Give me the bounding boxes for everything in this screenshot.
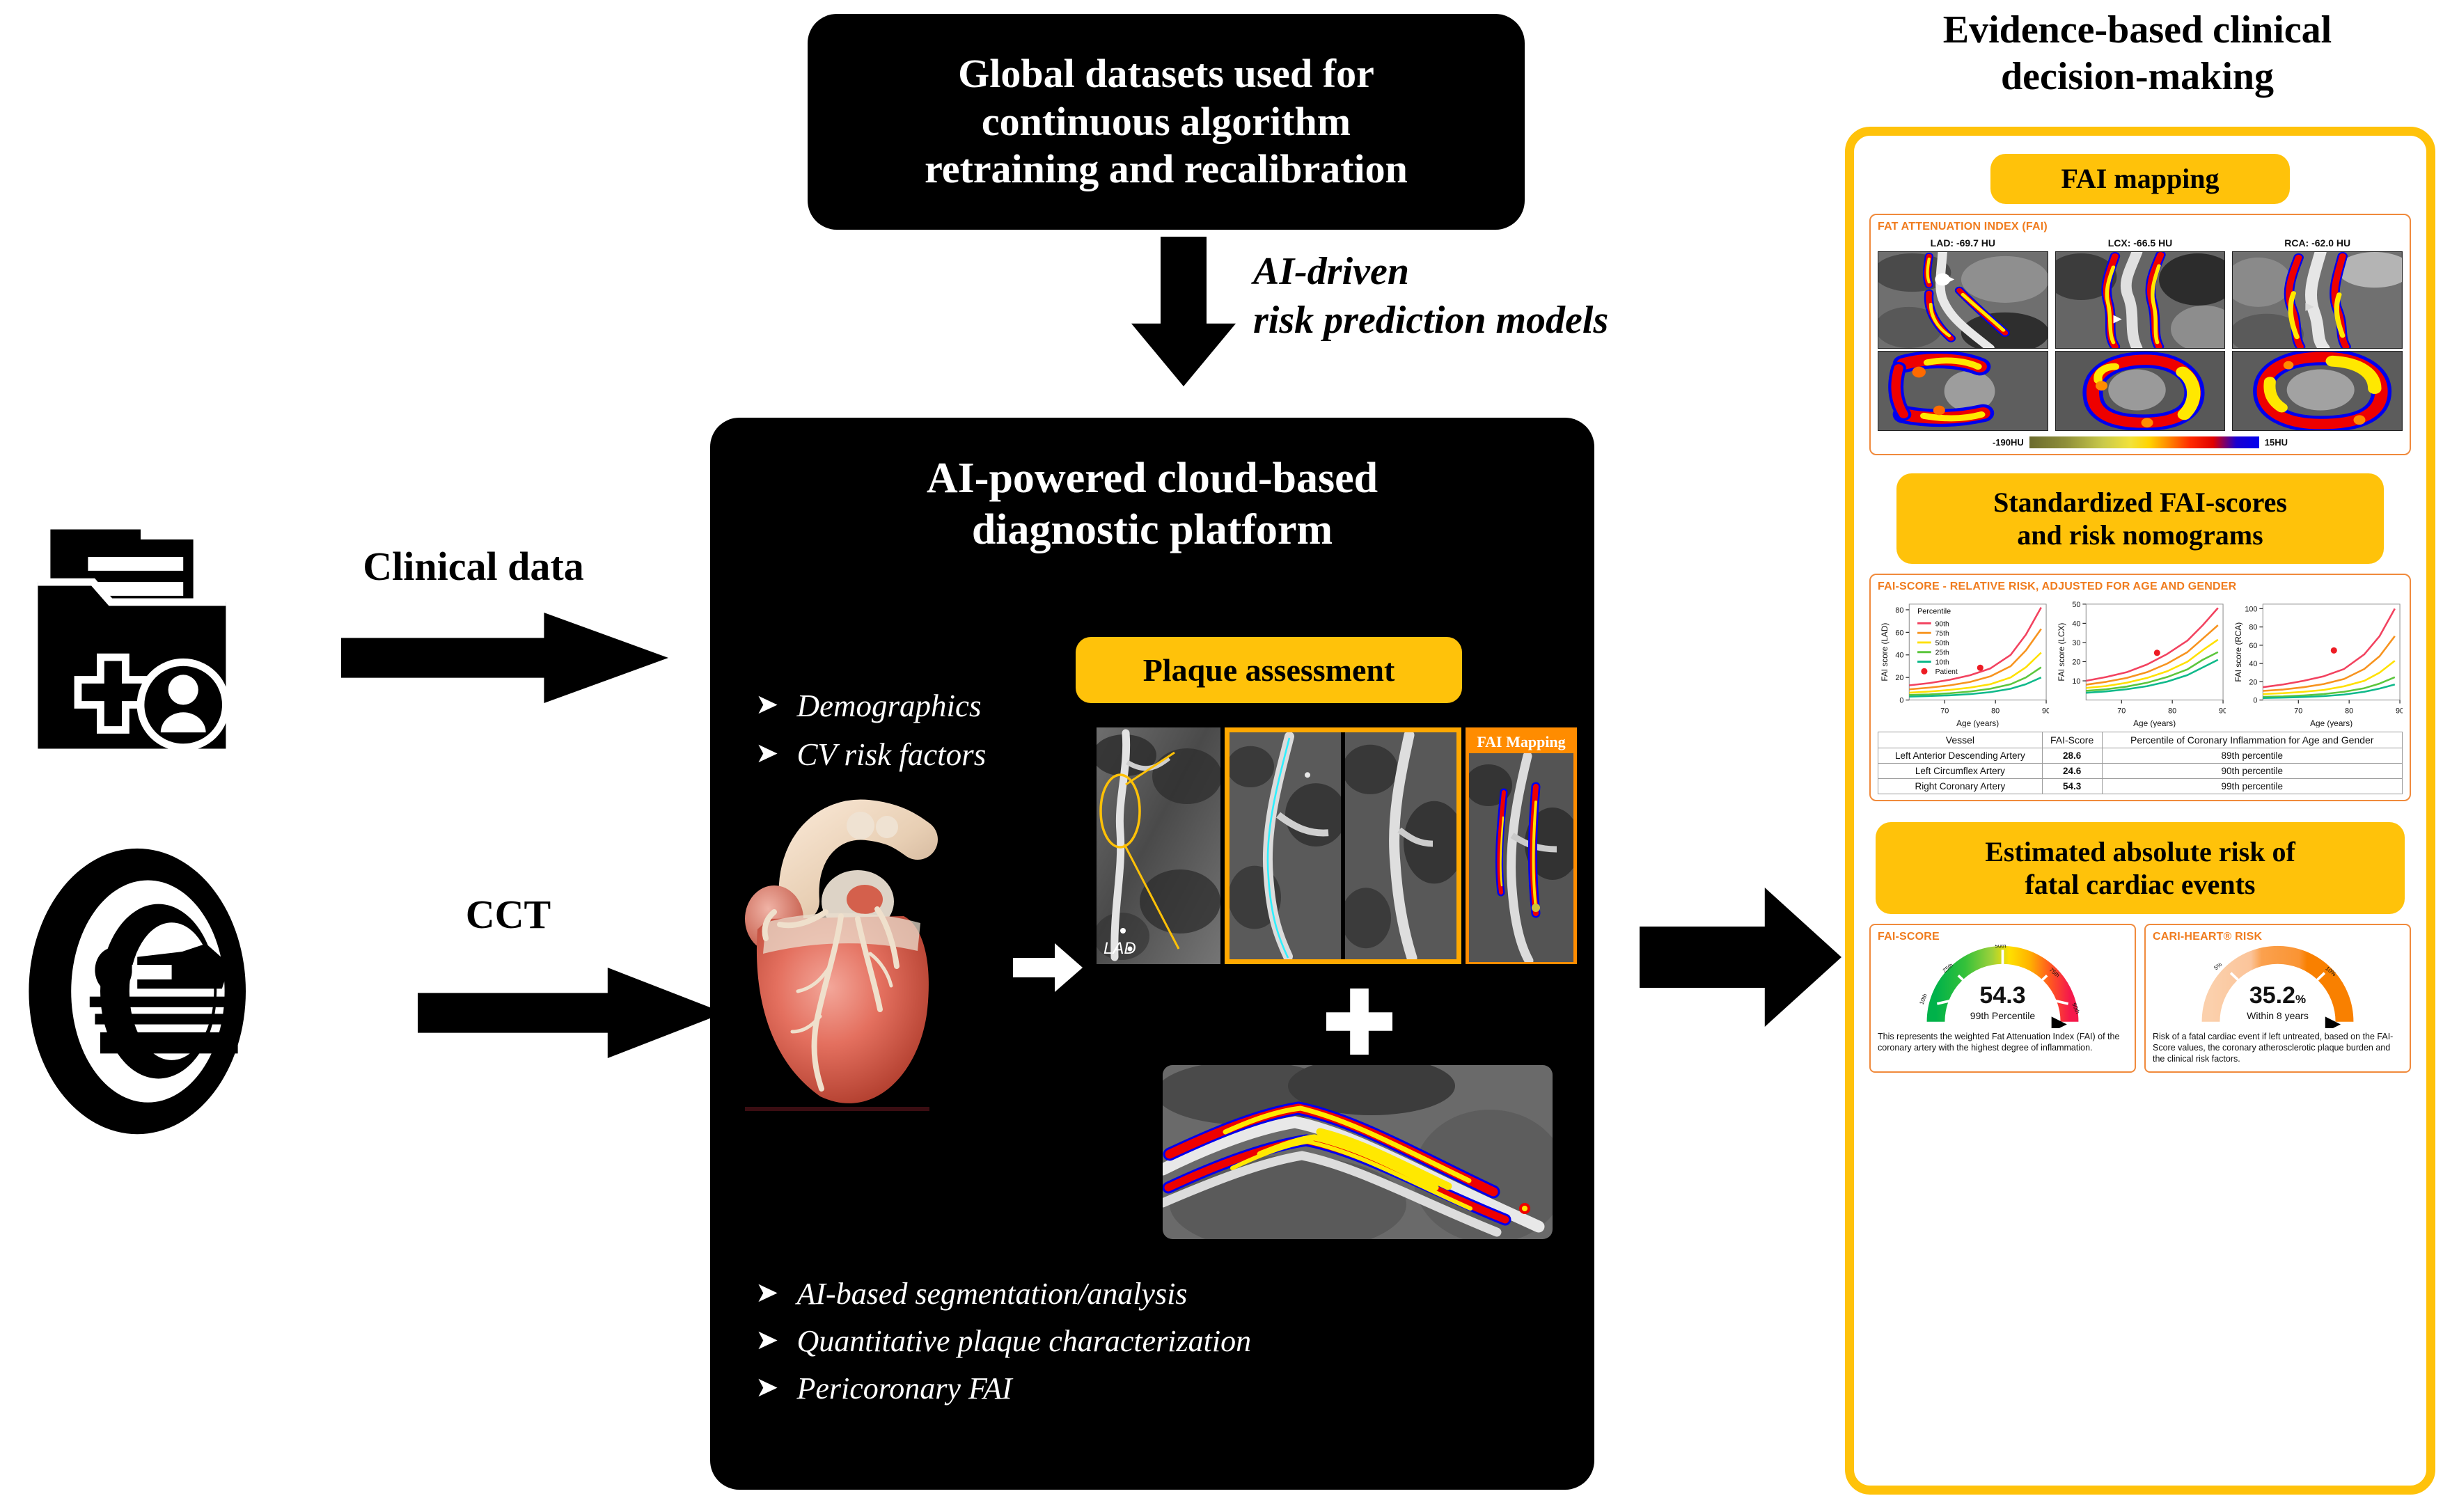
ct-scanner-icon (21, 842, 418, 1142)
svg-text:FAI score (LAD): FAI score (LAD) (1880, 623, 1890, 682)
medical-folder-icon (28, 487, 278, 766)
cari-gauge-sub: Within 8 years (2153, 1010, 2403, 1021)
svg-text:20: 20 (1895, 674, 1903, 682)
risk-pill-line1: Estimated absolute risk of (1985, 835, 2295, 868)
cell-vessel: Right Coronary Artery (1878, 778, 2043, 794)
cell-vessel: Left Circumflex Artery (1878, 763, 2043, 778)
nomogram-chart-lcx: 1020304050708090Age (years)FAI score (LC… (2055, 597, 2226, 727)
risk-pill-line2: fatal cardiac events (1985, 868, 2295, 901)
fai-column-label: LCX: -66.5 HU (2055, 237, 2226, 249)
colorbar-max-label: 15HU (2265, 437, 2288, 448)
svg-text:90: 90 (2042, 707, 2049, 715)
table-header-score: FAI-Score (2042, 732, 2102, 748)
heart-3d-render (738, 780, 1010, 1128)
fai-crosssection-image (2232, 351, 2403, 431)
clinical-data-label: Clinical data (327, 543, 620, 590)
bullet-item: ➤ AI-based segmentation/analysis (755, 1270, 1251, 1318)
ai-driven-line2: risk prediction models (1253, 296, 1741, 345)
fai-gauge-title: FAI-SCORE (1878, 931, 2128, 943)
platform-title-line1: AI-powered cloud-based (710, 452, 1594, 504)
section-pill-fai-mapping: FAI mapping (1990, 154, 2290, 204)
evidence-title-line2: decision-making (1838, 54, 2437, 100)
svg-text:10: 10 (2072, 677, 2080, 686)
fai-card: FAT ATTENUATION INDEX (FAI) LAD: -69.7 H… (1869, 214, 2411, 455)
svg-text:40: 40 (1895, 652, 1903, 660)
fai-gauge-sub: 99th Percentile (1878, 1010, 2128, 1021)
fai-column-label: RCA: -62.0 HU (2232, 237, 2403, 249)
cari-gauge-caption: Risk of a fatal cardiac event if left un… (2153, 1031, 2403, 1064)
fai-column: LCX: -66.5 HU (2055, 237, 2226, 431)
cct-arrow-icon (418, 968, 724, 1058)
svg-text:FAI score (LCX): FAI score (LCX) (2057, 623, 2066, 682)
colorbar-gradient (2029, 436, 2259, 448)
bullet-item: ➤ Demographics (755, 682, 986, 731)
ct-mpr-panel-group (1225, 727, 1461, 964)
cari-gauge-title: CARI-HEART® RISK (2153, 931, 2403, 943)
gauge-tick-50th: 50th (1995, 945, 2006, 950)
platform-bullets-bottom: ➤ AI-based segmentation/analysis ➤ Quant… (755, 1270, 1251, 1413)
plaque-assessment-badge: Plaque assessment (1076, 637, 1462, 703)
evidence-panel: FAI mapping FAT ATTENUATION INDEX (FAI) … (1845, 127, 2435, 1495)
fai-card-title: FAT ATTENUATION INDEX (FAI) (1878, 221, 2403, 233)
fai-gauge-caption: This represents the weighted Fat Attenua… (1878, 1031, 2128, 1053)
platform-title-line2: diagnostic platform (710, 504, 1594, 556)
svg-text:90th: 90th (1935, 620, 1949, 628)
global-datasets-line2: continuous algorithm (982, 98, 1351, 145)
svg-text:Age (years): Age (years) (2310, 718, 2352, 727)
svg-text:25th: 25th (1935, 649, 1949, 657)
ct-fai-mapping-panel: FAI Mapping (1466, 727, 1577, 964)
fai-crosssection-image (2055, 351, 2226, 431)
svg-text:70: 70 (2294, 707, 2302, 715)
global-datasets-line3: retraining and recalibration (925, 145, 1408, 193)
evidence-panel-title: Evidence-based clinical decision-making (1838, 7, 2437, 100)
svg-text:50th: 50th (1935, 640, 1949, 647)
svg-text:90: 90 (2396, 707, 2403, 715)
fai-colorbar: -190HU 15HU (1878, 436, 2403, 448)
svg-text:90: 90 (2219, 707, 2226, 715)
gauge-tick-5pct: 5% (2213, 961, 2224, 972)
table-header-percentile: Percentile of Coronary Inflammation for … (2102, 732, 2402, 748)
arrow-bullet-icon: ➤ (755, 1318, 779, 1362)
svg-text:30: 30 (2072, 639, 2080, 647)
section-pill-estimated-risk: Estimated absolute risk of fatal cardiac… (1876, 822, 2405, 914)
svg-text:40: 40 (2072, 620, 2080, 628)
down-arrow-icon (1131, 237, 1236, 386)
bullet-label: Pericoronary FAI (797, 1365, 1012, 1412)
svg-text:10th: 10th (1935, 659, 1949, 666)
std-pill-line1: Standardized FAI-scores (1993, 486, 2287, 519)
nomogram-chart-row: 020406080708090Age (years)FAI score (LAD… (1878, 597, 2403, 727)
cell-percentile: 89th percentile (2102, 748, 2402, 763)
svg-text:50: 50 (2072, 601, 2080, 609)
fai-column-label: LAD: -69.7 HU (1878, 237, 2048, 249)
svg-text:20: 20 (2249, 678, 2257, 686)
svg-text:75th: 75th (1935, 630, 1949, 638)
cari-heart-gauge-card: CARI-HEART® RISK (2144, 924, 2411, 1073)
fai-gauge-value: 54.3 (1878, 982, 2128, 1009)
svg-text:100: 100 (2245, 605, 2257, 613)
svg-text:0: 0 (2253, 697, 2257, 705)
bullet-item: ➤ CV risk factors (755, 731, 986, 780)
cari-gauge-value: 35.2% (2153, 982, 2403, 1009)
ct-lad-label: LAD (1103, 939, 1136, 959)
global-datasets-box: Global datasets used for continuous algo… (808, 14, 1525, 230)
ai-driven-line1: AI-driven (1253, 247, 1741, 296)
svg-text:60: 60 (1895, 629, 1903, 637)
cell-percentile: 99th percentile (2102, 778, 2402, 794)
arrow-bullet-icon: ➤ (755, 682, 779, 727)
table-row: Left Circumflex Artery 24.6 90th percent… (1878, 763, 2403, 778)
svg-text:0: 0 (1899, 697, 1903, 705)
table-header-row: Vessel FAI-Score Percentile of Coronary … (1878, 732, 2403, 748)
svg-text:Age (years): Age (years) (1956, 718, 1999, 727)
fai-column: LAD: -69.7 HU (1878, 237, 2048, 431)
nomogram-chart-rca: 020406080100708090Age (years)FAI score (… (2231, 597, 2403, 727)
global-datasets-line1: Global datasets used for (958, 50, 1374, 97)
svg-text:70: 70 (2117, 707, 2126, 715)
bullet-item: ➤ Pericoronary FAI (755, 1365, 1251, 1412)
nomogram-chart-lad: 020406080708090Age (years)FAI score (LAD… (1878, 597, 2049, 727)
fai-score-table: Vessel FAI-Score Percentile of Coronary … (1878, 732, 2403, 794)
evidence-title-line1: Evidence-based clinical (1838, 7, 2437, 54)
cari-gauge-number: 35.2 (2249, 982, 2295, 1009)
fai-crosssection-image (1878, 351, 2048, 431)
arrow-bullet-icon: ➤ (755, 1270, 779, 1315)
svg-text:Percentile: Percentile (1917, 608, 1951, 616)
svg-text:80: 80 (1895, 606, 1903, 615)
svg-text:40: 40 (2249, 660, 2257, 668)
cell-vessel: Left Anterior Descending Artery (1878, 748, 2043, 763)
ct-overview-panel: LAD (1097, 727, 1220, 964)
bullet-label: Quantitative plaque characterization (797, 1318, 1252, 1365)
arrow-bullet-icon: ➤ (755, 1365, 779, 1410)
bullet-item: ➤ Quantitative plaque characterization (755, 1318, 1251, 1365)
svg-text:FAI score (RCA): FAI score (RCA) (2233, 622, 2243, 682)
svg-text:Age (years): Age (years) (2133, 718, 2176, 727)
cell-percentile: 90th percentile (2102, 763, 2402, 778)
ct-mpr-straight-panel (1345, 732, 1456, 959)
svg-text:80: 80 (1991, 707, 2000, 715)
cari-gauge-unit: % (2295, 993, 2306, 1006)
gauge-row: FAI-SCORE (1869, 924, 2411, 1073)
table-row: Left Anterior Descending Artery 28.6 89t… (1878, 748, 2403, 763)
fai-longitudinal-image (2055, 251, 2226, 349)
cell-score: 28.6 (2042, 748, 2102, 763)
output-arrow-icon (1640, 888, 1841, 1027)
clinical-data-arrow-icon (341, 613, 668, 703)
cell-score: 54.3 (2042, 778, 2102, 794)
table-row: Right Coronary Artery 54.3 99th percenti… (1878, 778, 2403, 794)
std-pill-line2: and risk nomograms (1993, 519, 2287, 551)
bullet-label: Demographics (797, 682, 982, 731)
svg-text:80: 80 (2345, 707, 2353, 715)
fai-gauge: 10th 25th 50th 75th 90th 54.3 99th Perce… (1878, 945, 2128, 1028)
svg-text:60: 60 (2249, 642, 2257, 650)
fai-score-gauge-card: FAI-SCORE (1869, 924, 2136, 1073)
ct-mpr-centerline-panel (1230, 732, 1341, 959)
fai-image-grid: LAD: -69.7 HU (1878, 237, 2403, 431)
fai-longitudinal-image (2232, 251, 2403, 349)
platform-title: AI-powered cloud-based diagnostic platfo… (710, 452, 1594, 556)
arrow-bullet-icon: ➤ (755, 731, 779, 775)
section-pill-standardized-scores: Standardized FAI-scores and risk nomogra… (1896, 473, 2384, 564)
ct-plaque-fai-image (1163, 1065, 1553, 1239)
nomogram-card: FAI-SCORE - RELATIVE RISK, ADJUSTED FOR … (1869, 574, 2411, 801)
bullet-label: AI-based segmentation/analysis (797, 1270, 1188, 1318)
ai-driven-label: AI-driven risk prediction models (1253, 247, 1741, 345)
svg-text:20: 20 (2072, 658, 2080, 666)
cell-score: 24.6 (2042, 763, 2102, 778)
nomogram-card-title: FAI-SCORE - RELATIVE RISK, ADJUSTED FOR … (1878, 581, 2403, 593)
fai-mapping-header: FAI Mapping (1469, 731, 1573, 753)
table-header-vessel: Vessel (1878, 732, 2043, 748)
svg-text:80: 80 (2168, 707, 2176, 715)
plus-icon (1326, 989, 1392, 1055)
platform-bullets-top: ➤ Demographics ➤ CV risk factors (755, 682, 986, 780)
process-arrow-icon (1013, 943, 1083, 992)
fai-column: RCA: -62.0 HU (2232, 237, 2403, 431)
svg-text:70: 70 (1940, 707, 1949, 715)
svg-text:Patient: Patient (1935, 668, 1958, 676)
fai-longitudinal-image (1878, 251, 2048, 349)
bullet-label: CV risk factors (797, 731, 987, 780)
center-imaging-strip: LAD FAI (1097, 727, 1584, 964)
cari-gauge: 5% 10% 35.2% Within 8 years (2153, 945, 2403, 1028)
svg-text:80: 80 (2249, 624, 2257, 632)
colorbar-min-label: -190HU (1993, 437, 2024, 448)
cct-label: CCT (418, 891, 599, 938)
